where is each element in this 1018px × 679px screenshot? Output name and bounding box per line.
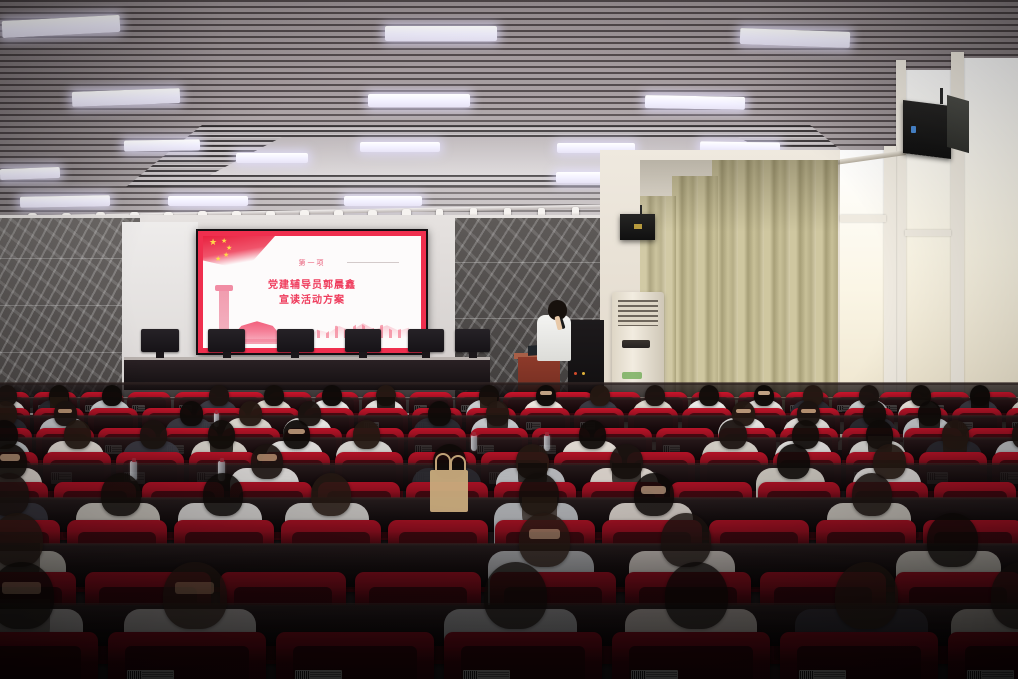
attendee-head — [64, 420, 91, 449]
tag-text-line — [310, 674, 341, 675]
desktop-monitor — [208, 329, 245, 352]
qr-code-icon — [296, 671, 309, 679]
slide-header: 第一项 — [203, 258, 421, 268]
slide-line-2: 宣读活动方案 — [203, 291, 421, 306]
attendee-head — [579, 420, 606, 449]
auditorium-seat[interactable] — [612, 632, 770, 679]
desk-edge — [0, 463, 1018, 466]
tag-text-line — [646, 674, 677, 675]
monitor-stand — [422, 352, 430, 358]
attendee-head — [283, 420, 310, 449]
flag-star-icon: ★ — [221, 238, 227, 245]
led-panel-light — [236, 153, 308, 163]
marble-seam — [455, 262, 605, 263]
tag-text-line — [814, 674, 845, 675]
rack-led — [582, 372, 585, 375]
attendee-head — [590, 385, 610, 406]
attendee-head — [428, 401, 451, 426]
window-transom — [840, 215, 886, 222]
tag-text-line — [982, 672, 1013, 673]
seat-qr-code-tag[interactable] — [799, 670, 846, 679]
attendee-head — [852, 473, 892, 515]
attendee-head — [719, 420, 746, 449]
monument-illustration — [219, 290, 229, 334]
bottle-cap — [215, 410, 218, 414]
marble-seam — [455, 318, 605, 319]
attendee-head — [754, 385, 774, 406]
flag-star-icon: ★ — [209, 239, 217, 246]
attendee-ear — [529, 529, 560, 539]
qr-code-icon — [464, 671, 477, 679]
attendee-ear — [540, 391, 552, 395]
qr-code-icon — [128, 671, 141, 679]
water-bottle — [471, 435, 477, 451]
air-conditioner-grille — [618, 300, 658, 326]
led-panel-light — [124, 139, 200, 151]
slide-line-1: 党建辅导员郭晨鑫 — [203, 276, 421, 291]
monitor-stand — [359, 352, 367, 358]
attendee-head — [835, 562, 898, 629]
tag-text-line — [814, 672, 845, 673]
attendee-ear — [801, 409, 815, 413]
attendee-ear — [175, 582, 214, 594]
auditorium-seat[interactable] — [108, 632, 266, 679]
tag-text-line — [478, 674, 509, 675]
water-bottle — [544, 435, 550, 451]
seat-qr-code-tag[interactable] — [631, 670, 678, 679]
marble-seam — [0, 305, 140, 306]
tag-text-line — [982, 674, 1013, 675]
tag-text-line — [646, 676, 677, 677]
auditorium-seat[interactable] — [276, 632, 434, 679]
bottle-cap — [220, 458, 224, 462]
tag-text-line — [478, 676, 509, 677]
attendee-head — [163, 562, 226, 629]
curtain-shadow — [640, 160, 840, 280]
attendee-ear — [641, 486, 666, 494]
bottle-cap — [472, 432, 476, 436]
seat-cushion — [0, 646, 81, 679]
led-panel-light — [645, 95, 745, 110]
air-conditioner-logo — [622, 372, 642, 379]
attendee-head — [645, 385, 665, 406]
monitor-stand — [156, 352, 164, 358]
led-panel-light — [360, 142, 440, 152]
auditorium-seat[interactable] — [780, 632, 938, 679]
tag-text-line — [142, 674, 173, 675]
attendee-ear — [58, 409, 72, 413]
bottle-cap — [545, 432, 549, 436]
presenter-body — [537, 315, 571, 361]
monitor-stand — [291, 352, 299, 358]
monitor-stand — [469, 352, 477, 358]
desk-edge — [0, 543, 1018, 546]
seat-qr-code-tag[interactable] — [967, 670, 1014, 679]
bag-handle — [450, 455, 466, 473]
speaker-logo — [634, 224, 642, 229]
speaker-bracket — [940, 88, 943, 104]
marble-seam — [0, 258, 140, 259]
auditorium-seat[interactable] — [0, 632, 98, 679]
qr-code-icon — [968, 671, 981, 679]
marble-wall-left — [0, 218, 140, 408]
attendee-head — [777, 444, 810, 479]
air-conditioner-control-panel — [622, 340, 650, 348]
attendee-head — [140, 420, 167, 449]
tag-text-line — [310, 676, 341, 677]
window-mullion — [884, 146, 896, 404]
bag-handle — [435, 453, 451, 473]
desktop-monitor — [277, 329, 314, 352]
flag-star-icon: ★ — [226, 245, 232, 252]
seat-qr-code-tag[interactable] — [463, 670, 510, 679]
attendee-head — [311, 473, 351, 515]
led-panel-light — [368, 94, 470, 107]
desktop-monitor — [141, 329, 179, 352]
auditorium-photo: ★ ★ ★ ★ ★ 第一项 党建辅导员郭晨鑫 宣读活动方案 — [0, 0, 1018, 679]
desktop-monitor — [455, 329, 490, 352]
rack-led — [574, 372, 577, 375]
attendee-head — [519, 513, 569, 566]
attendee-head — [665, 562, 728, 629]
attendee-ear — [0, 454, 20, 460]
auditorium-seat[interactable] — [444, 632, 602, 679]
speaker-right-side — [947, 95, 969, 153]
led-panel-light — [385, 26, 497, 41]
attendee-head — [251, 444, 284, 479]
attendee-ear — [758, 391, 770, 395]
led-panel-light — [344, 196, 422, 206]
tag-text-line — [142, 672, 173, 673]
attendee-head — [661, 513, 711, 566]
attendee-head — [101, 473, 141, 515]
attendee-head — [180, 401, 203, 426]
marble-seam — [0, 352, 140, 353]
seat-qr-code-tag[interactable] — [295, 670, 342, 679]
window-transom — [905, 230, 951, 236]
attendee-ear — [257, 454, 277, 460]
tag-text-line — [478, 672, 509, 673]
attendee-head — [239, 401, 262, 426]
window — [963, 58, 1018, 408]
tag-text-line — [142, 676, 173, 677]
tag-text-line — [310, 672, 341, 673]
desktop-monitor — [408, 329, 444, 352]
attendee-head — [209, 385, 229, 406]
attendee-ear — [736, 409, 750, 413]
attendee-head — [203, 473, 243, 515]
led-panel-light — [20, 195, 110, 208]
desktop-monitor — [345, 329, 381, 352]
attendee-head — [536, 385, 556, 406]
attendee-head — [634, 473, 674, 515]
led-panel-light — [168, 196, 248, 206]
seat-qr-code-tag[interactable] — [127, 670, 174, 679]
tag-text-line — [646, 672, 677, 673]
window — [840, 150, 884, 400]
attendee-head — [927, 513, 977, 566]
bottle-cap — [132, 458, 136, 462]
tag-text-line — [982, 676, 1013, 677]
qr-code-icon — [800, 671, 813, 679]
handbag — [430, 470, 468, 512]
attendee-head — [322, 385, 342, 406]
attendee-head — [264, 385, 284, 406]
attendee-ear — [288, 429, 305, 434]
qr-code-icon — [632, 671, 645, 679]
attendee-head — [484, 562, 547, 629]
led-panel-light — [0, 167, 60, 180]
monitor-stand — [223, 352, 231, 358]
attendee-head — [102, 385, 122, 406]
tag-text-line — [814, 676, 845, 677]
speaker-indicator-led — [911, 126, 916, 133]
attendee-ear — [2, 582, 41, 594]
attendee-head — [353, 420, 380, 449]
auditorium-seat[interactable] — [948, 632, 1018, 679]
attendee-head — [699, 385, 719, 406]
